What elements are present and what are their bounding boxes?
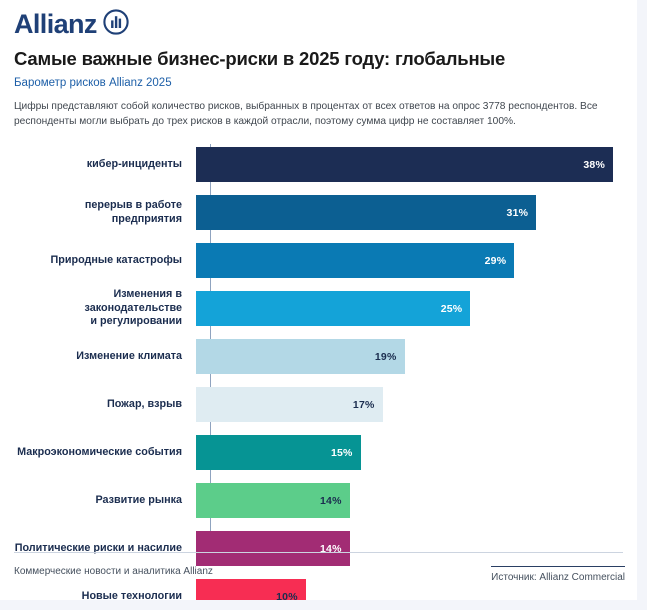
page-subtitle: Барометр рисков Allianz 2025 xyxy=(14,77,623,91)
bar-track: 38% xyxy=(196,141,637,189)
footer-source: Источник: Allianz Commercial xyxy=(491,566,625,583)
category-label: Изменения в законодательстве и регулиров… xyxy=(14,288,196,328)
chart-row: Пожар, взрыв17% xyxy=(14,381,637,429)
chart-row: Развитие рынка14% xyxy=(14,477,637,525)
bar[interactable]: 15% xyxy=(196,435,361,470)
bar-track: 15% xyxy=(196,429,637,477)
bar[interactable]: 19% xyxy=(196,339,405,374)
bar-track: 29% xyxy=(196,237,637,285)
chart-row: Изменение климата19% xyxy=(14,333,637,381)
category-label: перерыв в работе предприятия xyxy=(14,199,196,226)
bar[interactable]: 14% xyxy=(196,483,350,518)
bar[interactable]: 29% xyxy=(196,243,514,278)
bar-chart: кибер-инциденты38%перерыв в работе предп… xyxy=(0,141,637,551)
bar-value-label: 25% xyxy=(441,303,463,315)
chart-row: кибер-инциденты38% xyxy=(14,141,637,189)
chart-row: Изменения в законодательстве и регулиров… xyxy=(14,285,637,333)
bar-value-label: 31% xyxy=(507,207,529,219)
bar-track: 14% xyxy=(196,477,637,525)
chart-row: Макроэкономические события15% xyxy=(14,429,637,477)
category-label: Макроэкономические события xyxy=(14,446,196,459)
category-label: Природные катастрофы xyxy=(14,254,196,267)
bar-track: 25% xyxy=(196,285,637,333)
bar-value-label: 29% xyxy=(485,255,507,267)
category-label: кибер-инциденты xyxy=(14,158,196,171)
category-label: Изменение климата xyxy=(14,350,196,363)
methodology-note: Цифры представляют собой количество риск… xyxy=(14,100,634,130)
allianz-logo: Allianz xyxy=(14,9,623,39)
bar-track: 17% xyxy=(196,381,637,429)
category-label: Развитие рынка xyxy=(14,494,196,507)
footer: Коммерческие новости и аналитика Allianz… xyxy=(0,552,637,600)
bar-value-label: 38% xyxy=(583,159,605,171)
footer-attribution: Коммерческие новости и аналитика Allianz xyxy=(14,566,213,577)
bar-value-label: 15% xyxy=(331,447,353,459)
bar-track: 31% xyxy=(196,189,637,237)
allianz-circle-bars-icon xyxy=(103,9,129,40)
category-label: Пожар, взрыв xyxy=(14,398,196,411)
bar-track: 19% xyxy=(196,333,637,381)
bar[interactable]: 38% xyxy=(196,147,613,182)
chart-rows: кибер-инциденты38%перерыв в работе предп… xyxy=(14,141,637,600)
chart-row: перерыв в работе предприятия31% xyxy=(14,189,637,237)
bar[interactable]: 17% xyxy=(196,387,383,422)
infographic-page: Allianz Самые важные бизнес-риски в 2025… xyxy=(0,0,637,600)
bar-value-label: 17% xyxy=(353,399,375,411)
footer-divider xyxy=(14,552,623,553)
allianz-wordmark: Allianz xyxy=(14,11,97,38)
bar[interactable]: 25% xyxy=(196,291,470,326)
chart-row: Природные катастрофы29% xyxy=(14,237,637,285)
bar-value-label: 19% xyxy=(375,351,397,363)
bar-value-label: 14% xyxy=(320,495,342,507)
header: Allianz Самые важные бизнес-риски в 2025… xyxy=(0,0,637,130)
bar[interactable]: 31% xyxy=(196,195,536,230)
page-title: Самые важные бизнес-риски в 2025 году: г… xyxy=(14,48,623,69)
